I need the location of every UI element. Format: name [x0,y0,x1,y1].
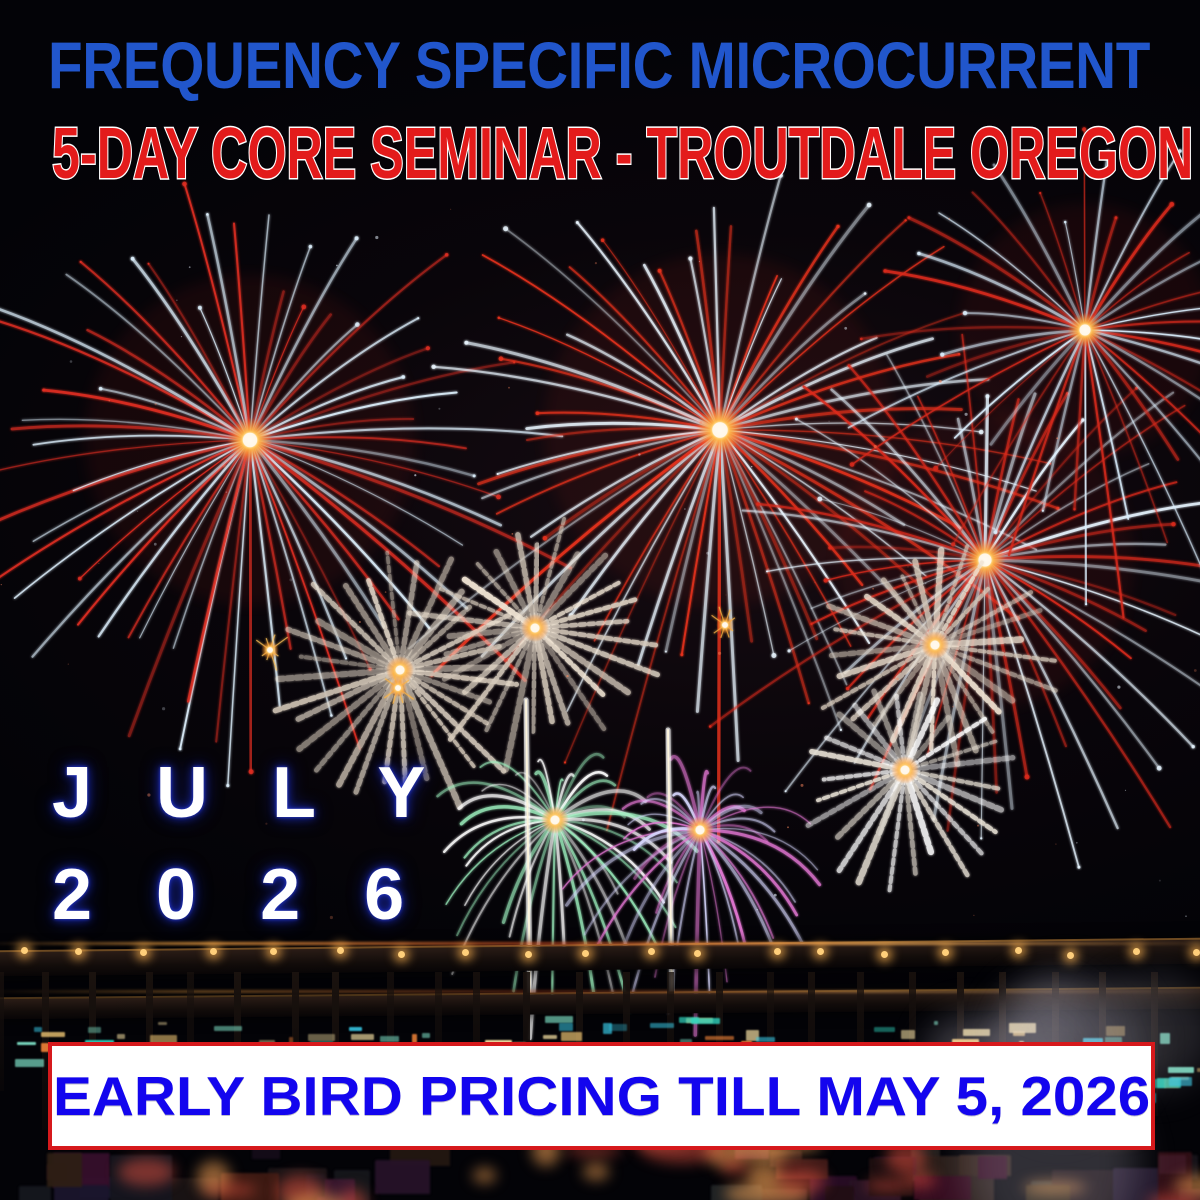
page-title-line1: FREQUENCY SPECIFIC MICROCURRENT [48,30,1158,119]
city-light-icon [1067,952,1074,959]
city-light-icon [34,1027,42,1032]
city-light-icon [462,949,469,956]
foreground-silhouette [825,1186,854,1200]
city-light-icon [694,950,701,957]
city-light-icon [874,1027,895,1032]
city-light-icon [901,1030,915,1039]
city-light-icon [679,1017,699,1023]
city-light-icon [817,948,824,955]
city-light-icon [543,1035,557,1039]
city-light-icon [210,948,217,955]
city-light-icon [582,950,589,957]
city-light-icon [117,1034,125,1039]
city-light-icon [1193,949,1200,956]
event-month: J U L Y [52,742,447,844]
foreground-silhouette [375,1160,430,1194]
foreground-light-smear [202,1184,257,1196]
city-light-icon [158,1022,167,1025]
foreground-light-smear [583,1163,609,1180]
city-light-icon [1133,948,1140,955]
title-line1-text: FREQUENCY SPECIFIC MICROCURRENT [48,30,1150,102]
city-light-icon [705,1036,734,1040]
foreground-light-smear [865,1180,911,1191]
city-light-icon [881,951,888,958]
city-light-icon [349,1027,362,1031]
city-light-icon [561,1032,582,1041]
city-light-icon [398,951,405,958]
city-light-icon [270,948,277,955]
city-light-icon [942,949,949,956]
city-light-icon [609,1024,627,1031]
city-light-icon [75,948,82,955]
city-light-icon [774,948,781,955]
event-poster: FREQUENCY SPECIFIC MICROCURRENT 5-DAY CO… [0,0,1200,1200]
city-light-icon [41,1032,65,1037]
city-light-icon [140,949,147,956]
city-light-icon [308,1034,335,1041]
city-light-icon [21,947,28,954]
foreground-light-smear [776,1169,826,1193]
city-light-icon [337,947,344,954]
page-title-line2: 5-DAY CORE SEMINAR - TROUTDALE OREGON [50,114,1198,208]
city-light-icon [88,1027,101,1033]
city-light-icon [351,1034,374,1040]
city-light-icon [934,1021,938,1025]
city-light-icon [650,1023,674,1028]
foreground-light-smear [720,1159,749,1174]
city-light-icon [17,1042,36,1045]
early-bird-banner: EARLY BIRD PRICING TILL MAY 5, 2026 [48,1042,1155,1150]
title-line1-svg: FREQUENCY SPECIFIC MICROCURRENT [48,30,1158,108]
foreground-silhouette [47,1153,82,1187]
city-light-icon [559,1023,573,1031]
foreground-light-smear [473,1168,496,1183]
foreground-silhouette [1159,1155,1186,1174]
city-light-icon [422,1033,430,1038]
city-light-icon [525,951,532,958]
event-year: 2 0 2 6 [52,844,447,946]
city-light-icon [545,1016,573,1023]
city-light-icon [648,948,655,955]
foreground-light-smear [118,1158,175,1186]
title-line2-text: 5-DAY CORE SEMINAR - TROUTDALE OREGON [52,114,1193,194]
city-light-icon [214,1026,242,1031]
foreground-silhouette [19,1186,51,1200]
city-light-icon [1015,947,1022,954]
event-date: J U L Y 2 0 2 6 [52,742,447,946]
city-light-icon [15,1059,44,1067]
early-bird-banner-text: EARLY BIRD PRICING TILL MAY 5, 2026 [53,1064,1150,1128]
foreground-silhouette [54,1185,109,1200]
title-line2-svg: 5-DAY CORE SEMINAR - TROUTDALE OREGON [50,114,1198,198]
bridge-piling [0,972,4,1091]
